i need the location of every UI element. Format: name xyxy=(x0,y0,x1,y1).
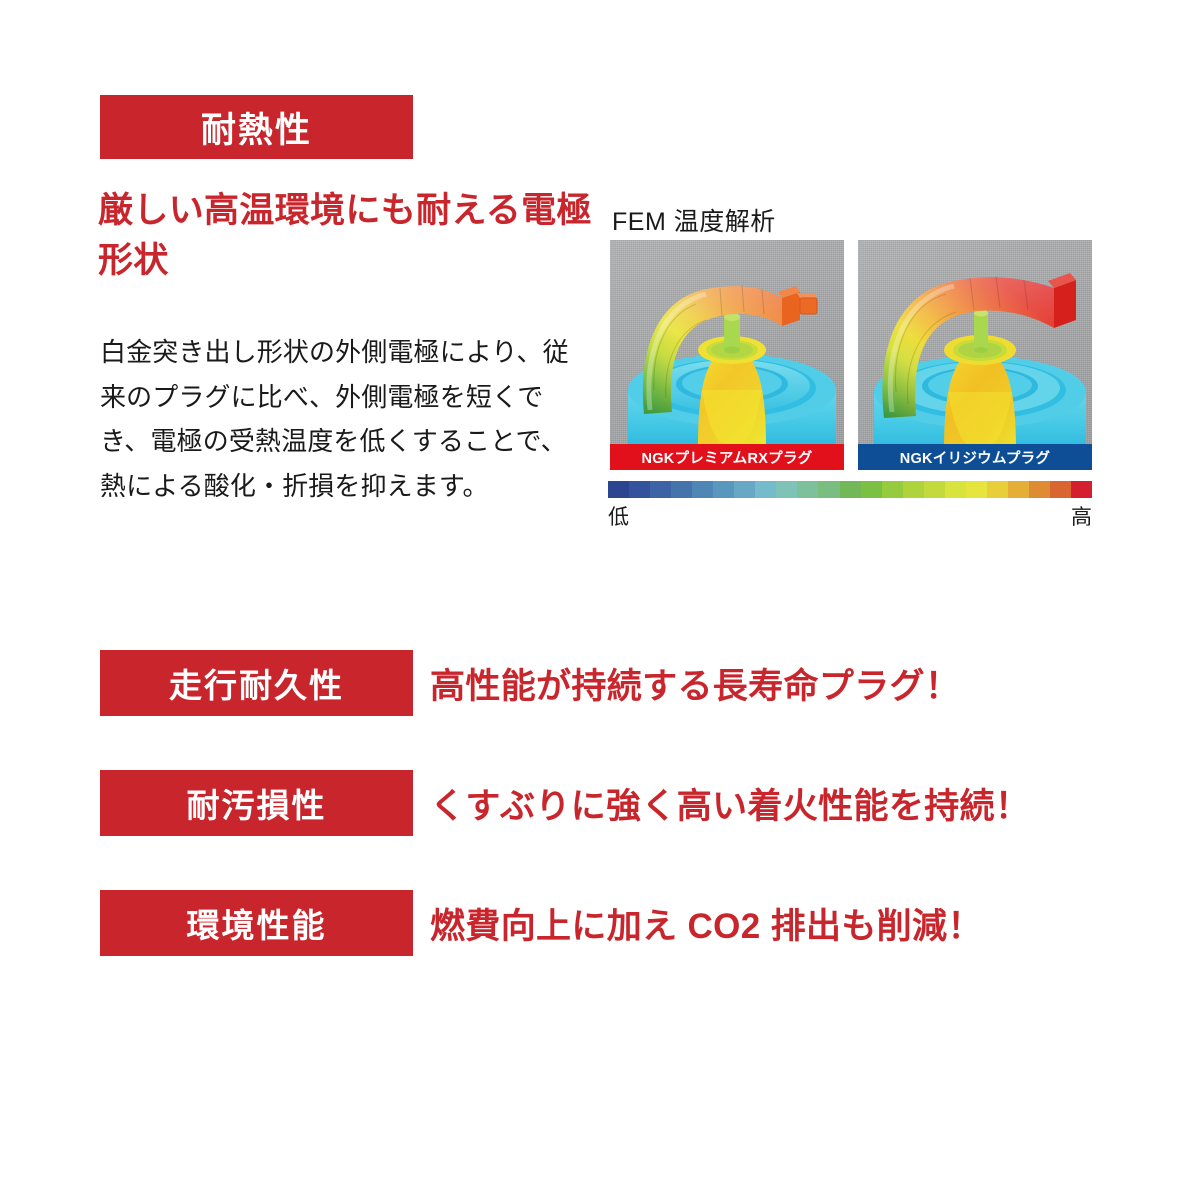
fem-thermal-render-premium-rx xyxy=(610,240,844,470)
temperature-scale-band-19 xyxy=(1008,481,1029,498)
temperature-scale-band-18 xyxy=(987,481,1008,498)
temperature-scale-band-1 xyxy=(629,481,650,498)
temperature-scale-band-21 xyxy=(1050,481,1071,498)
temperature-scale-band-20 xyxy=(1029,481,1050,498)
temperature-scale-band-5 xyxy=(713,481,734,498)
temperature-scale-band-2 xyxy=(650,481,671,498)
page-headline: 厳しい高温環境にも耐える電極形状 xyxy=(98,186,598,285)
temperature-scale-band-7 xyxy=(755,481,776,498)
feature-text-driving-durability: 高性能が持続する長寿命プラグ！ xyxy=(430,650,960,716)
fem-panel-iridium: NGKイリジウムプラグ xyxy=(858,240,1092,470)
feature-row: 耐汚損性 くすぶりに強く高い着火性能を持続！ xyxy=(100,770,1080,836)
feature-text-environmental-performance: 燃費向上に加え CO2 排出も削減！ xyxy=(430,890,983,956)
fem-panel-label-iridium: NGKイリジウムプラグ xyxy=(858,444,1092,470)
temperature-scale-band-13 xyxy=(882,481,903,498)
temperature-scale-band-4 xyxy=(692,481,713,498)
fem-panel-group: NGKプレミアムRXプラグ xyxy=(610,240,1092,470)
temperature-scale-low-label: 低 xyxy=(608,501,629,531)
temperature-scale-band-22 xyxy=(1071,481,1092,498)
temperature-scale-band-16 xyxy=(945,481,966,498)
feature-badge-driving-durability: 走行耐久性 xyxy=(100,650,413,716)
temperature-scale: 低 高 xyxy=(608,481,1092,531)
temperature-scale-band-10 xyxy=(818,481,839,498)
temperature-scale-band-0 xyxy=(608,481,629,498)
fem-analysis-title: FEM 温度解析 xyxy=(612,202,776,238)
fem-panel-premium-rx: NGKプレミアムRXプラグ xyxy=(610,240,844,470)
temperature-scale-band-17 xyxy=(966,481,987,498)
feature-page: 耐熱性 厳しい高温環境にも耐える電極形状 白金突き出し形状の外側電極により、従来… xyxy=(0,0,1200,1200)
section-badge-heat-resistance: 耐熱性 xyxy=(100,95,413,159)
temperature-scale-band-15 xyxy=(924,481,945,498)
section-body-text: 白金突き出し形状の外側電極により、従来のプラグに比べ、外側電極を短くでき、電極の… xyxy=(100,330,592,509)
temperature-scale-band-8 xyxy=(776,481,797,498)
temperature-scale-band-11 xyxy=(840,481,861,498)
temperature-scale-band-3 xyxy=(671,481,692,498)
feature-badge-fouling-resistance: 耐汚損性 xyxy=(100,770,413,836)
fem-thermal-render-iridium xyxy=(858,240,1092,470)
fem-panel-label-premium-rx: NGKプレミアムRXプラグ xyxy=(610,444,844,470)
feature-row: 環境性能 燃費向上に加え CO2 排出も削減！ xyxy=(100,890,1080,956)
feature-text-fouling-resistance: くすぶりに強く高い着火性能を持続！ xyxy=(430,770,1030,836)
feature-badge-environmental-performance: 環境性能 xyxy=(100,890,413,956)
feature-row: 走行耐久性 高性能が持続する長寿命プラグ！ xyxy=(100,650,1080,716)
temperature-scale-band-9 xyxy=(797,481,818,498)
temperature-scale-bar xyxy=(608,481,1092,498)
temperature-scale-high-label: 高 xyxy=(1071,501,1092,531)
temperature-scale-band-6 xyxy=(734,481,755,498)
temperature-scale-band-12 xyxy=(861,481,882,498)
temperature-scale-band-14 xyxy=(903,481,924,498)
